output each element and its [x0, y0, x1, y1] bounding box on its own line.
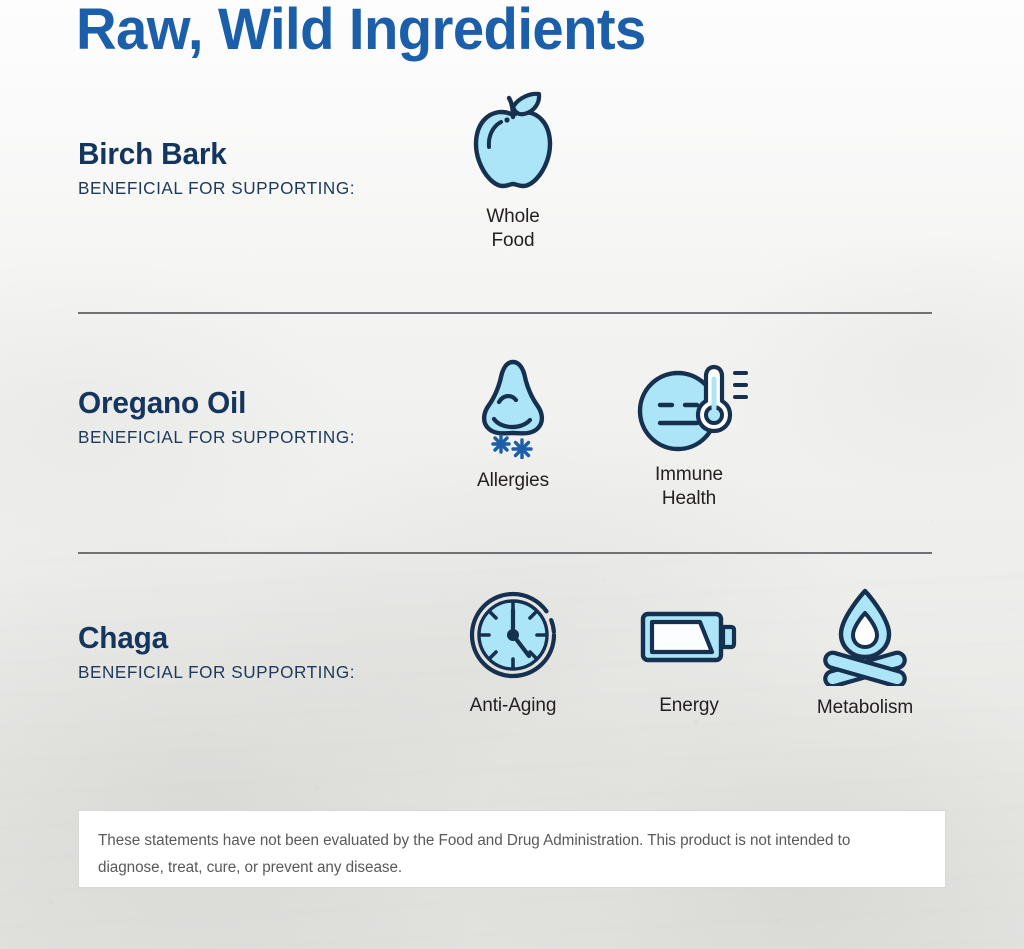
infographic-page: Raw, Wild Ingredients Birch Bark BENEFIC… [0, 0, 1024, 949]
divider-2 [78, 552, 932, 554]
benefit-item-whole-food: Whole Food [425, 91, 601, 252]
benefit-label: Energy [659, 694, 719, 718]
nose-sneeze-icon [465, 353, 561, 459]
clock-icon [464, 586, 562, 684]
disclaimer-text: These statements have not been evaluated… [98, 828, 914, 881]
benefit-item-allergies: Allergies [425, 353, 601, 493]
benefit-list: Allergies [425, 353, 777, 510]
ingredient-subtitle: BENEFICIAL FOR SUPPORTING: [78, 427, 450, 448]
benefit-item-metabolism: Metabolism [777, 586, 953, 720]
benefit-item-energy: Energy [601, 586, 777, 718]
ingredient-name: Chaga [78, 622, 443, 655]
benefit-list: Anti-Aging Energy [425, 586, 953, 720]
benefit-label: Immune Health [655, 463, 723, 510]
disclaimer-box: These statements have not been evaluated… [78, 810, 946, 888]
benefit-label: Metabolism [817, 696, 913, 720]
campfire-icon [817, 586, 913, 686]
benefit-item-immune-health: Immune Health [601, 353, 777, 510]
ingredient-subtitle: BENEFICIAL FOR SUPPORTING: [78, 178, 450, 199]
benefit-label: Whole Food [486, 205, 539, 252]
page-title: Raw, Wild Ingredients [76, 0, 646, 64]
ingredient-heading-block: Chaga BENEFICIAL FOR SUPPORTING: [78, 622, 458, 683]
battery-icon [639, 586, 739, 684]
benefit-label: Anti-Aging [470, 694, 557, 718]
ingredient-name: Birch Bark [78, 138, 443, 171]
ingredient-subtitle: BENEFICIAL FOR SUPPORTING: [78, 662, 450, 683]
divider-1 [78, 312, 932, 314]
ingredient-heading-block: Oregano Oil BENEFICIAL FOR SUPPORTING: [78, 387, 458, 448]
benefit-label: Allergies [477, 469, 549, 493]
ingredient-heading-block: Birch Bark BENEFICIAL FOR SUPPORTING: [78, 138, 458, 199]
sick-face-thermometer-icon [630, 353, 748, 453]
benefit-list: Whole Food [425, 91, 601, 252]
apple-icon [464, 91, 562, 195]
ingredient-name: Oregano Oil [78, 387, 443, 420]
benefit-item-anti-aging: Anti-Aging [425, 586, 601, 718]
